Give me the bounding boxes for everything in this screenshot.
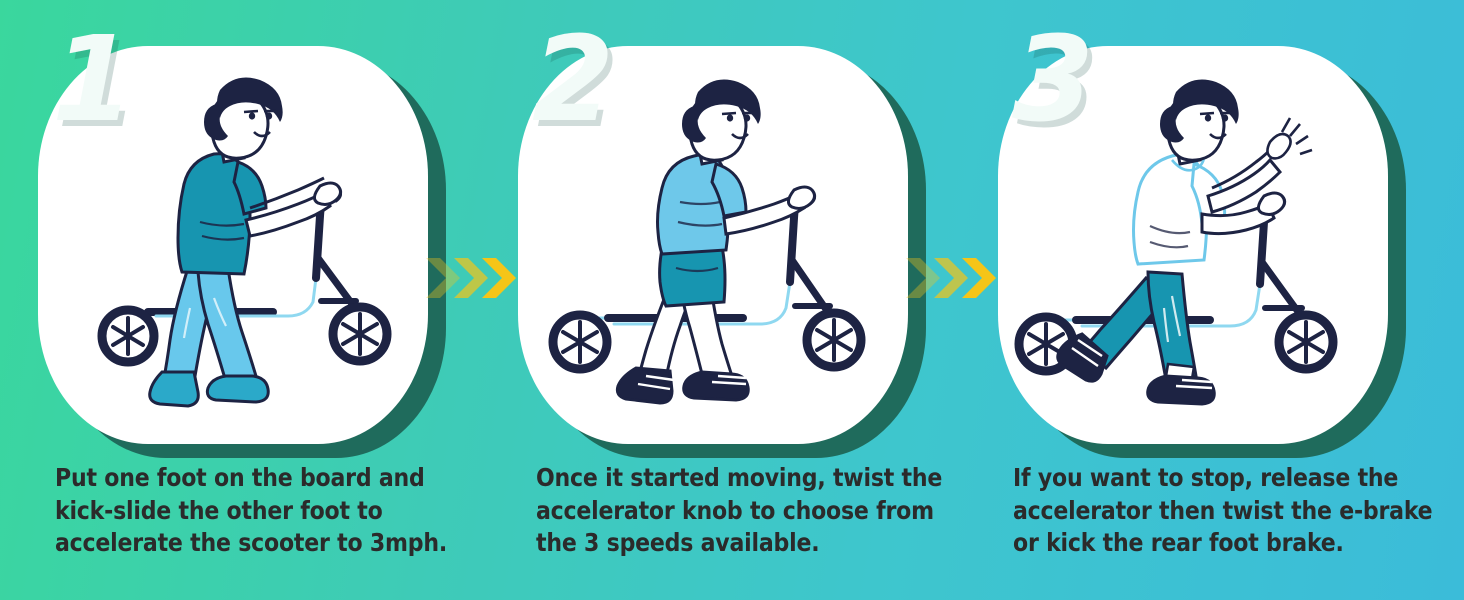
step-caption-1: Put one foot on the board and kick-slide… <box>55 462 467 560</box>
step-3-card-wrap: 3 <box>998 46 1388 444</box>
step-card-1: 1 <box>38 46 428 444</box>
scooter-rider-illustration-3 <box>998 46 1388 444</box>
step-card-2: 2 <box>518 46 908 444</box>
step-2-card <box>518 46 908 444</box>
step-card-3: 3 <box>998 46 1388 444</box>
infographic-board: 1 Put one foot on the board and kick-sli… <box>0 0 1464 600</box>
step-1-card <box>38 46 428 444</box>
step-caption-2: Once it started moving, twist the accele… <box>536 462 948 560</box>
scooter-rider-illustration-1 <box>38 46 428 444</box>
step-2-card-wrap: 2 <box>518 46 908 444</box>
step-caption-3: If you want to stop, release the acceler… <box>1013 462 1443 560</box>
scooter-rider-illustration-2 <box>518 46 908 444</box>
step-1-card-wrap: 1 <box>38 46 428 444</box>
arrow-step-2-to-3 <box>904 252 1000 304</box>
arrow-step-1-to-2 <box>424 252 520 304</box>
step-3-card <box>998 46 1388 444</box>
